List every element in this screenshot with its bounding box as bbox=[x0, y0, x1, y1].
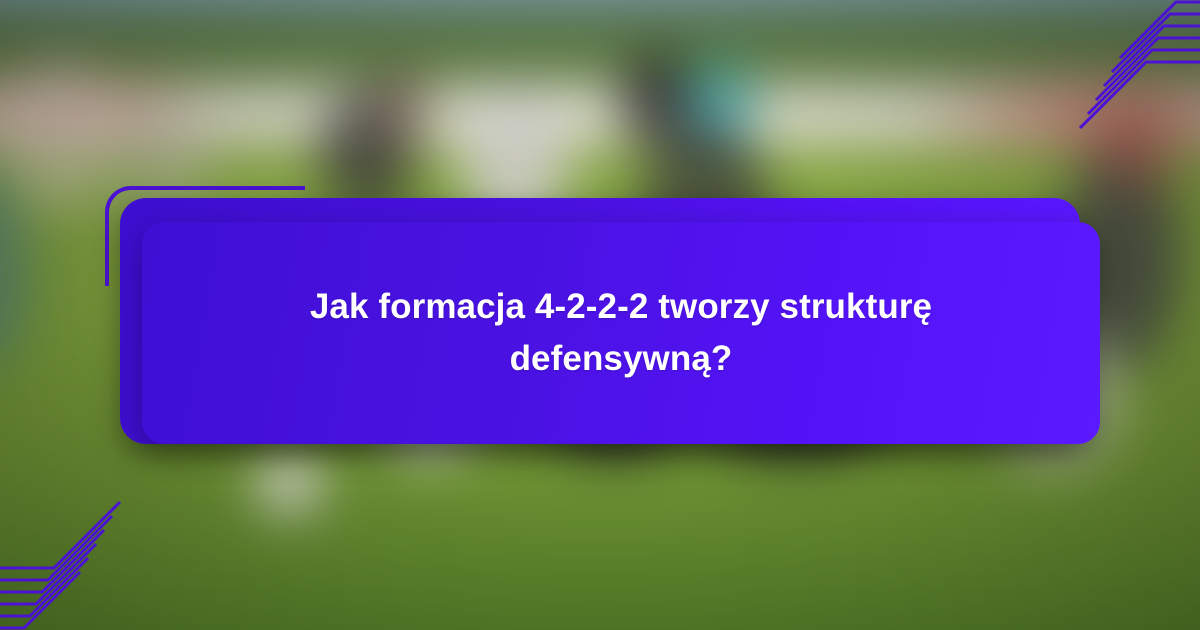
page-title: Jak formacja 4-2-2-2 tworzy strukturę de… bbox=[241, 281, 1001, 386]
headline-card: Jak formacja 4-2-2-2 tworzy strukturę de… bbox=[142, 222, 1100, 444]
player-blob bbox=[0, 60, 120, 210]
soccer-ball-shadow bbox=[286, 480, 306, 496]
player-blob bbox=[370, 70, 430, 140]
player-blob bbox=[1090, 100, 1180, 190]
social-card-canvas: Jak formacja 4-2-2-2 tworzy strukturę de… bbox=[0, 0, 1200, 630]
